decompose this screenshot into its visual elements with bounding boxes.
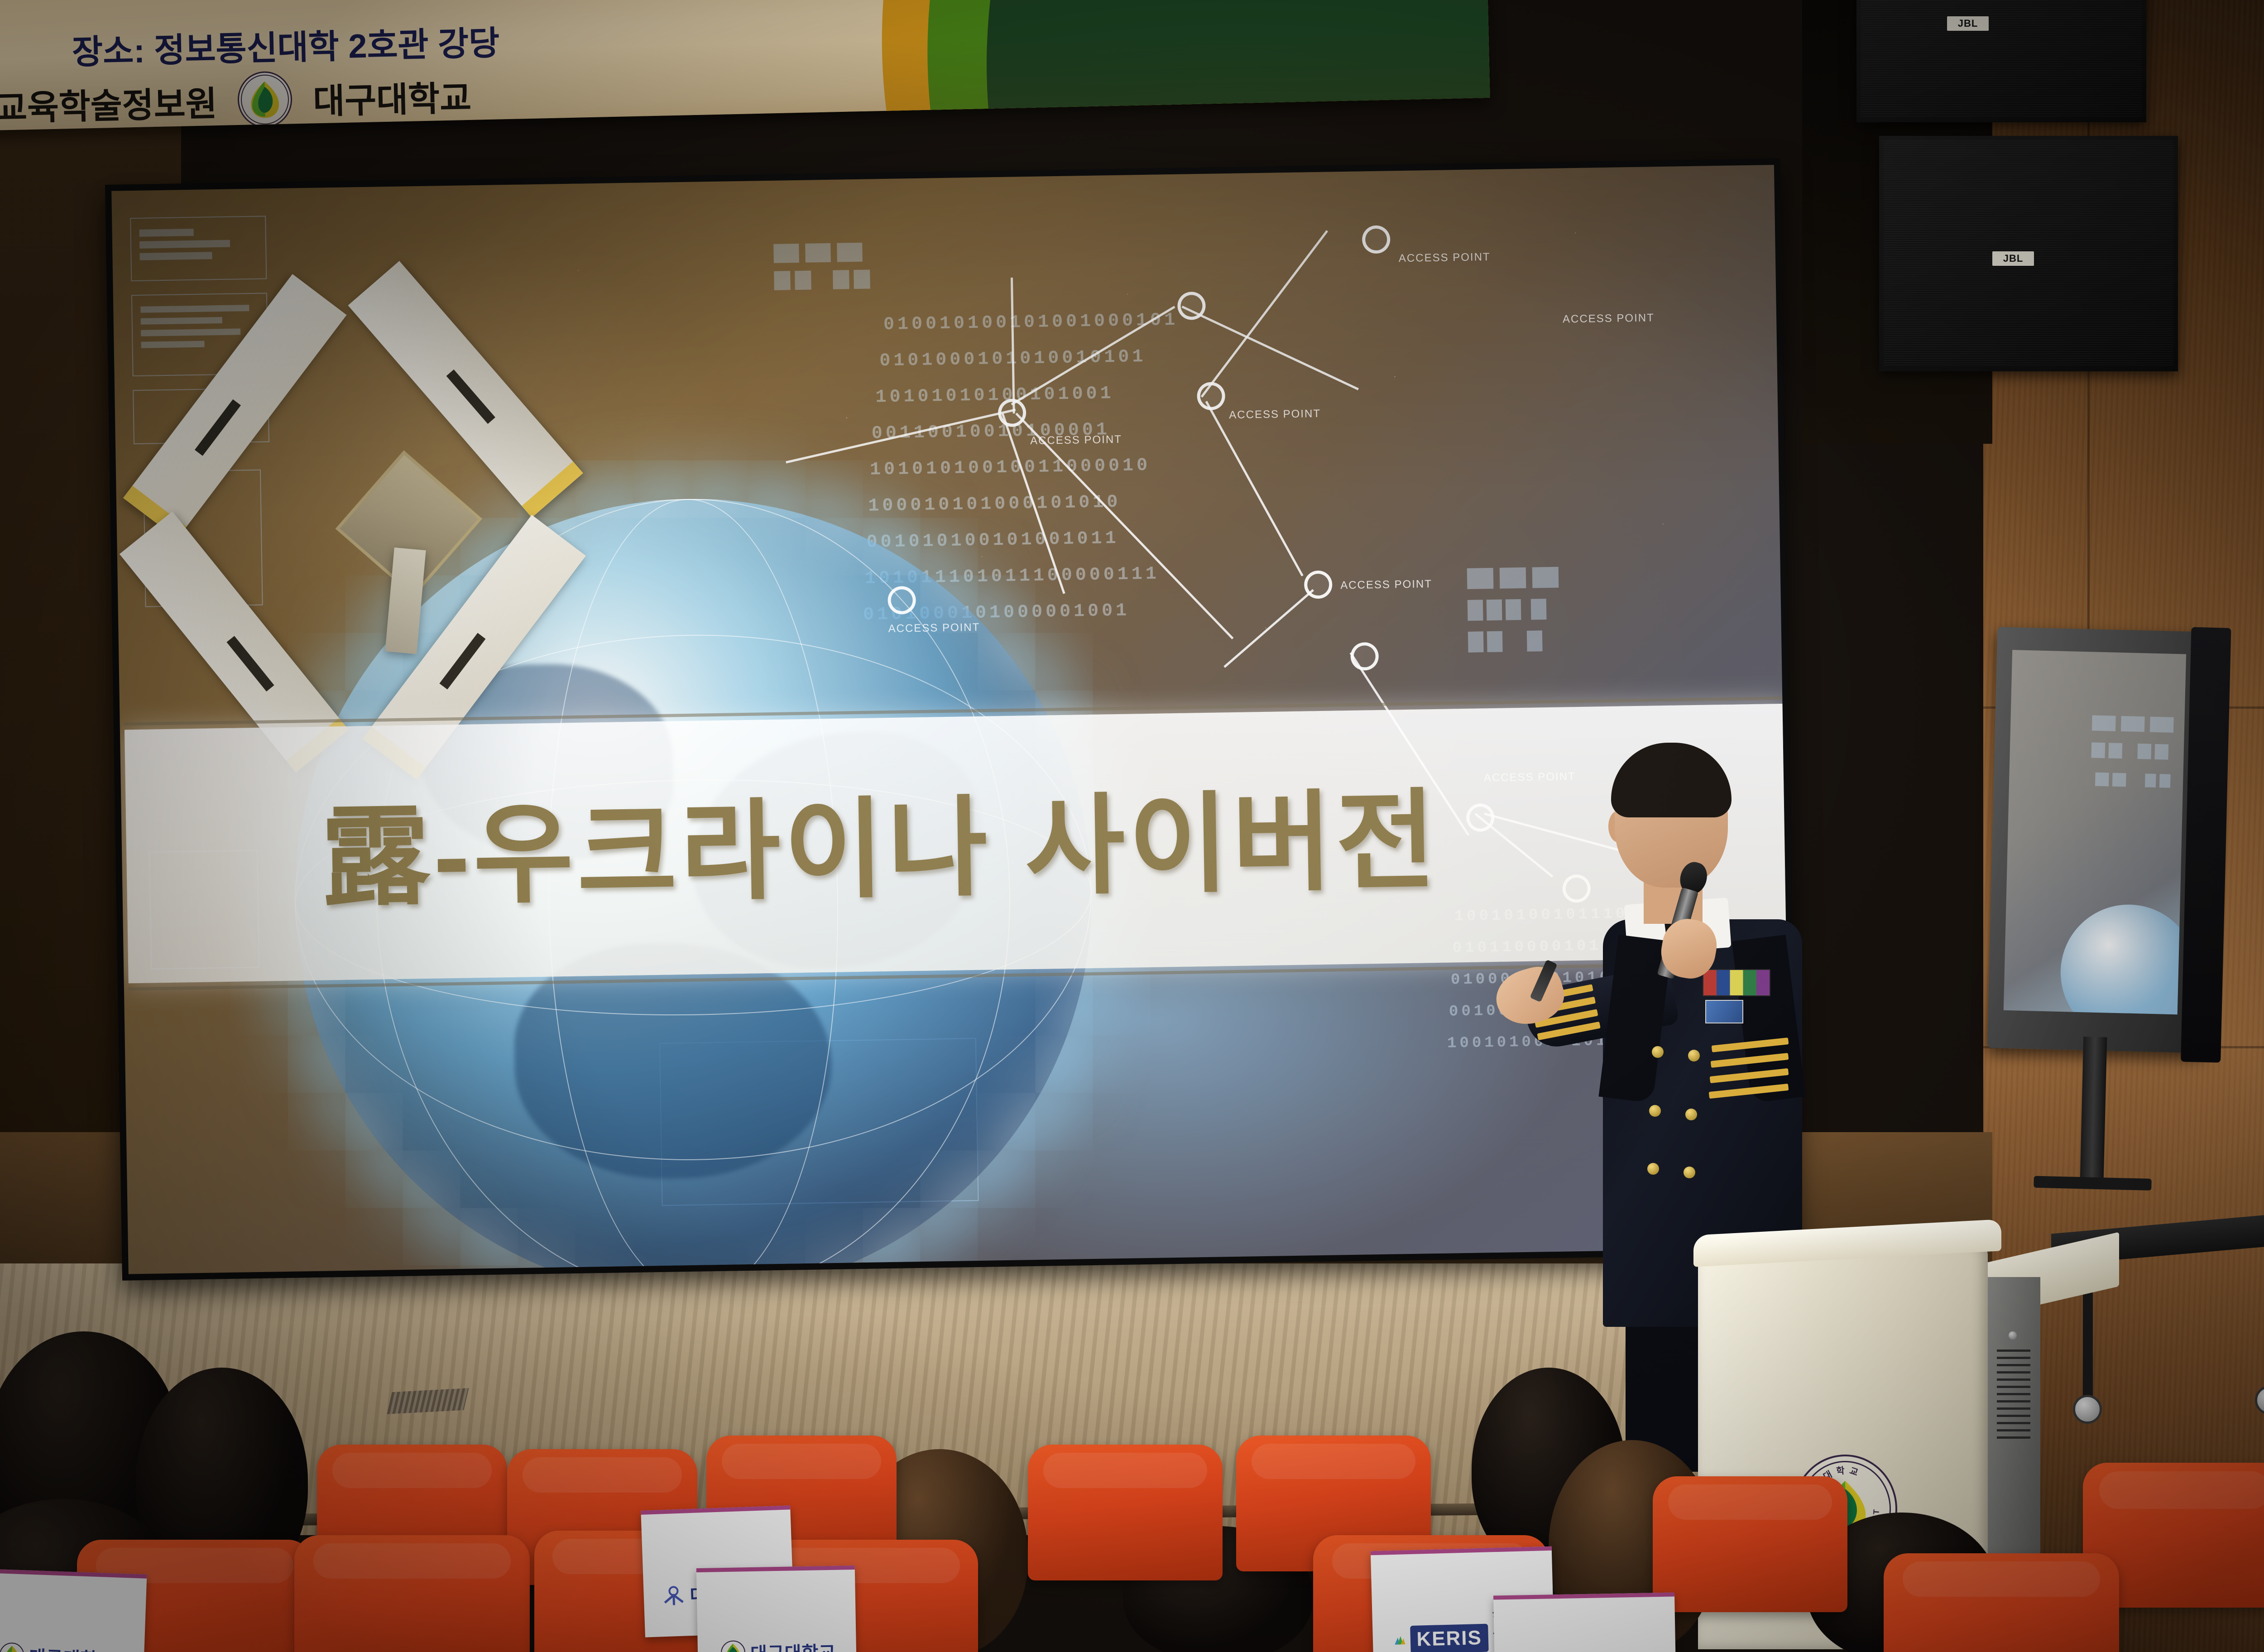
jacket-button	[1647, 1163, 1659, 1175]
jbl-logo: JBL	[1992, 251, 2034, 266]
presenter-badge	[1705, 1000, 1743, 1023]
banner-shading	[0, 0, 1490, 131]
keris-logo-text: KERIS	[1410, 1624, 1489, 1652]
speaker-grille	[1861, 0, 2142, 118]
floor-vent	[387, 1388, 469, 1414]
laptop-logo: 대구대학교	[0, 1641, 115, 1652]
auditorium-seat	[1884, 1553, 2119, 1652]
jbl-speaker-upper: JBL	[1856, 0, 2146, 122]
event-banner: 기술 지원 위한 협력 세미나 00 장소: 정보통신대학 2호관 강당 한국교…	[0, 0, 1490, 131]
jacket-button	[1649, 1105, 1661, 1117]
daegu-seal-icon	[720, 1640, 746, 1652]
laptop-lid: 대구대학교	[696, 1566, 857, 1652]
confidence-monitor	[1987, 627, 2215, 1053]
laptop-lid: 대구대학교	[0, 1568, 147, 1652]
ict-logo-icon	[662, 1583, 686, 1607]
keris-mark-icon	[1393, 1628, 1406, 1652]
cart-caster	[2255, 1386, 2264, 1415]
lectern-lock	[2009, 1331, 2017, 1340]
monitor-screen	[2004, 650, 2186, 1014]
laptop-logo-text: 대구대학교	[29, 1642, 115, 1652]
jbl-logo: JBL	[1947, 16, 1989, 31]
jacket-button	[1685, 1109, 1697, 1120]
jacket-button	[1652, 1046, 1664, 1058]
auditorium-seat	[1653, 1476, 1847, 1612]
presenter-hair	[1611, 743, 1732, 817]
daegu-seal-icon	[0, 1642, 25, 1652]
jbl-speaker-lower: JBL	[1879, 136, 2178, 371]
jacket-button	[1684, 1167, 1695, 1178]
laptop-logo: 대구대학교	[720, 1638, 836, 1652]
jacket-button	[1688, 1050, 1700, 1061]
laptop-lid: 대구대학교	[1493, 1593, 1676, 1652]
lectern-vent	[1997, 1349, 2030, 1440]
auditorium-seat	[294, 1535, 530, 1652]
monitor-stand	[2080, 1037, 2107, 1186]
auditorium-seat	[1028, 1445, 1223, 1580]
presenter-ribbon-rack	[1703, 969, 1770, 996]
laptop-logo-text: 대구대학교	[750, 1638, 836, 1652]
photo-scene: JBL JBL	[0, 0, 2264, 1652]
